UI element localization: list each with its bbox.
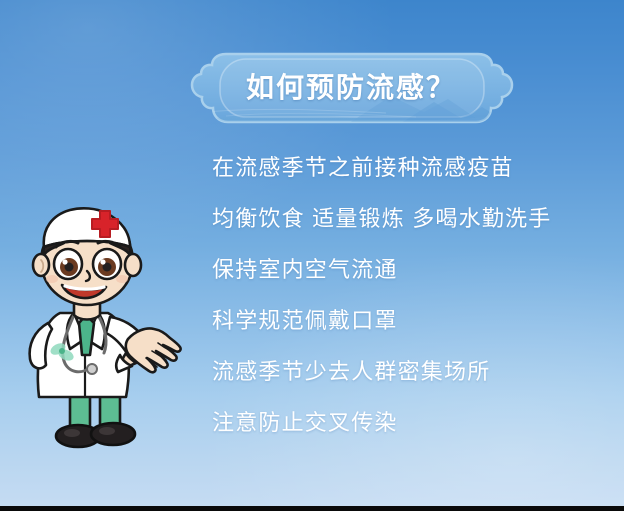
prevention-tips-list: 在流感季节之前接种流感疫苗 均衡饮食 适量锻炼 多喝水勤洗手 保持室内空气流通 … bbox=[212, 142, 612, 448]
title-badge: 如何预防流感？ bbox=[186, 52, 516, 125]
doctor-mascot-illustration bbox=[8, 163, 208, 463]
bottom-letterbox-bar bbox=[0, 506, 624, 511]
tip-line: 均衡饮食 适量锻炼 多喝水勤洗手 bbox=[212, 193, 612, 244]
tip-line: 在流感季节之前接种流感疫苗 bbox=[212, 142, 612, 193]
tip-line: 流感季节少去人群密集场所 bbox=[212, 346, 612, 397]
tip-line: 保持室内空气流通 bbox=[212, 244, 612, 295]
tip-line: 注意防止交叉传染 bbox=[212, 397, 612, 448]
tip-line: 科学规范佩戴口罩 bbox=[212, 295, 612, 346]
flu-prevention-poster: 如何预防流感？ 在流感季节之前接种流感疫苗 均衡饮食 适量锻炼 多喝水勤洗手 保… bbox=[0, 0, 624, 511]
page-title: 如何预防流感？ bbox=[186, 68, 516, 108]
doctor-mascot-icon bbox=[8, 163, 208, 463]
